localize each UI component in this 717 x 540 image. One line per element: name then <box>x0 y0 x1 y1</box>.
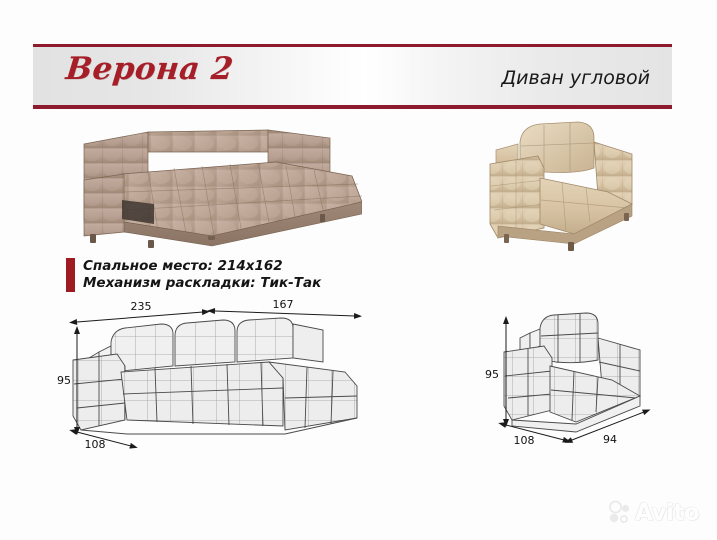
sofa-width-main-label: 235 <box>131 300 152 313</box>
avito-watermark: Avito <box>607 498 707 528</box>
sofa-unfolded-into-bed-photo <box>62 118 362 250</box>
specifications-block: Спальное место: 214х162 Механизм расклад… <box>66 258 321 292</box>
header-banner: Верона 2 Диван угловой <box>33 44 672 109</box>
spec-mechanism: Механизм раскладки: Тик-Так <box>83 275 321 292</box>
armchair-dimension-diagram: 95 108 94 <box>470 300 670 455</box>
armchair-photo <box>482 112 640 254</box>
sofa-width-chaise-label: 167 <box>273 300 294 311</box>
spec-bullet-marker <box>66 258 75 292</box>
chair-width-label: 94 <box>603 433 617 446</box>
chair-depth-label: 108 <box>514 434 535 447</box>
product-type-label: Диван угловой <box>501 67 650 89</box>
avito-logo-icon <box>607 500 633 526</box>
sofa-depth-label: 108 <box>85 438 106 450</box>
corner-sofa-dimension-diagram: 235 167 95 108 <box>55 300 375 455</box>
page-title: Верона 2 <box>64 51 235 87</box>
spec-sleeping-area: Спальное место: 214х162 <box>83 258 321 275</box>
avito-watermark-text: Avito <box>635 502 699 525</box>
sofa-height-label: 95 <box>57 374 71 387</box>
chair-height-label: 95 <box>485 368 499 381</box>
spec-text: Спальное место: 214х162 Механизм расклад… <box>83 258 321 292</box>
